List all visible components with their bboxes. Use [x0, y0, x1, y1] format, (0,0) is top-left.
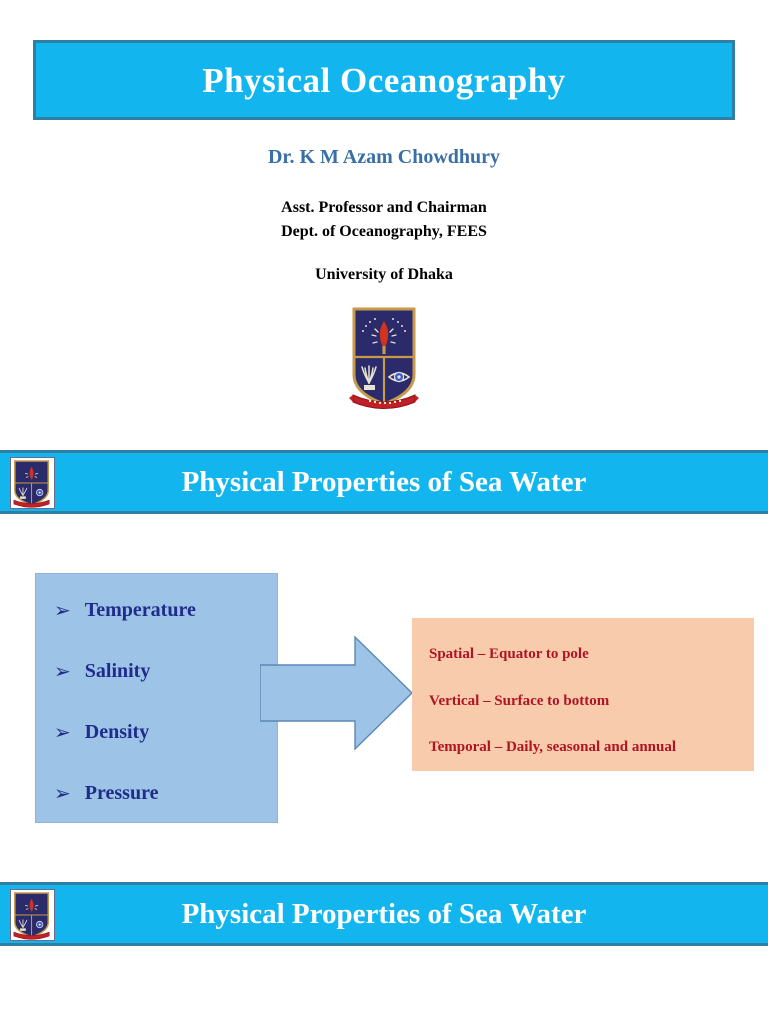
- chevron-bullet-icon: ➢: [54, 783, 71, 803]
- author-name: Dr. K M Azam Chowdhury: [0, 146, 768, 169]
- section-title: Physical Properties of Sea Water: [0, 453, 768, 511]
- section-title: Physical Properties of Sea Water: [0, 885, 768, 943]
- property-label-pressure: Pressure: [85, 783, 159, 803]
- chevron-bullet-icon: ➢: [54, 661, 71, 681]
- variability-box: Spatial – Equator to pole Vertical – Sur…: [412, 618, 754, 771]
- property-label-density: Density: [85, 722, 149, 742]
- affiliation-line-2: Dept. of Oceanography, FEES: [0, 220, 768, 244]
- university-name: University of Dhaka: [0, 266, 768, 284]
- page-title: Physical Oceanography: [202, 63, 565, 98]
- list-item: ➢ Density: [54, 722, 149, 742]
- right-arrow-icon: [260, 623, 420, 763]
- property-label-temperature: Temperature: [85, 600, 196, 620]
- list-item: ➢ Pressure: [54, 783, 158, 803]
- content-area: ➢ Temperature ➢ Salinity ➢ Density ➢ Pre…: [0, 513, 768, 882]
- section-header-bar: Physical Properties of Sea Water: [0, 450, 768, 514]
- list-item: ➢ Temperature: [54, 600, 196, 620]
- list-item: ➢ Salinity: [54, 661, 150, 681]
- section-header-bar: Physical Properties of Sea Water: [0, 882, 768, 946]
- variability-line-spatial: Spatial – Equator to pole: [429, 647, 589, 662]
- property-label-salinity: Salinity: [85, 661, 151, 681]
- chevron-bullet-icon: ➢: [54, 600, 71, 620]
- chevron-bullet-icon: ➢: [54, 722, 71, 742]
- properties-list-box: ➢ Temperature ➢ Salinity ➢ Density ➢ Pre…: [35, 573, 278, 823]
- variability-line-vertical: Vertical – Surface to bottom: [429, 694, 609, 709]
- affiliation-block: Asst. Professor and Chairman Dept. of Oc…: [0, 196, 768, 244]
- university-crest-icon: [349, 305, 419, 410]
- title-slide: Physical Oceanography Dr. K M Azam Chowd…: [0, 0, 768, 440]
- variability-line-temporal: Temporal – Daily, seasonal and annual: [429, 740, 676, 755]
- title-banner: Physical Oceanography: [33, 40, 735, 120]
- affiliation-line-1: Asst. Professor and Chairman: [0, 196, 768, 220]
